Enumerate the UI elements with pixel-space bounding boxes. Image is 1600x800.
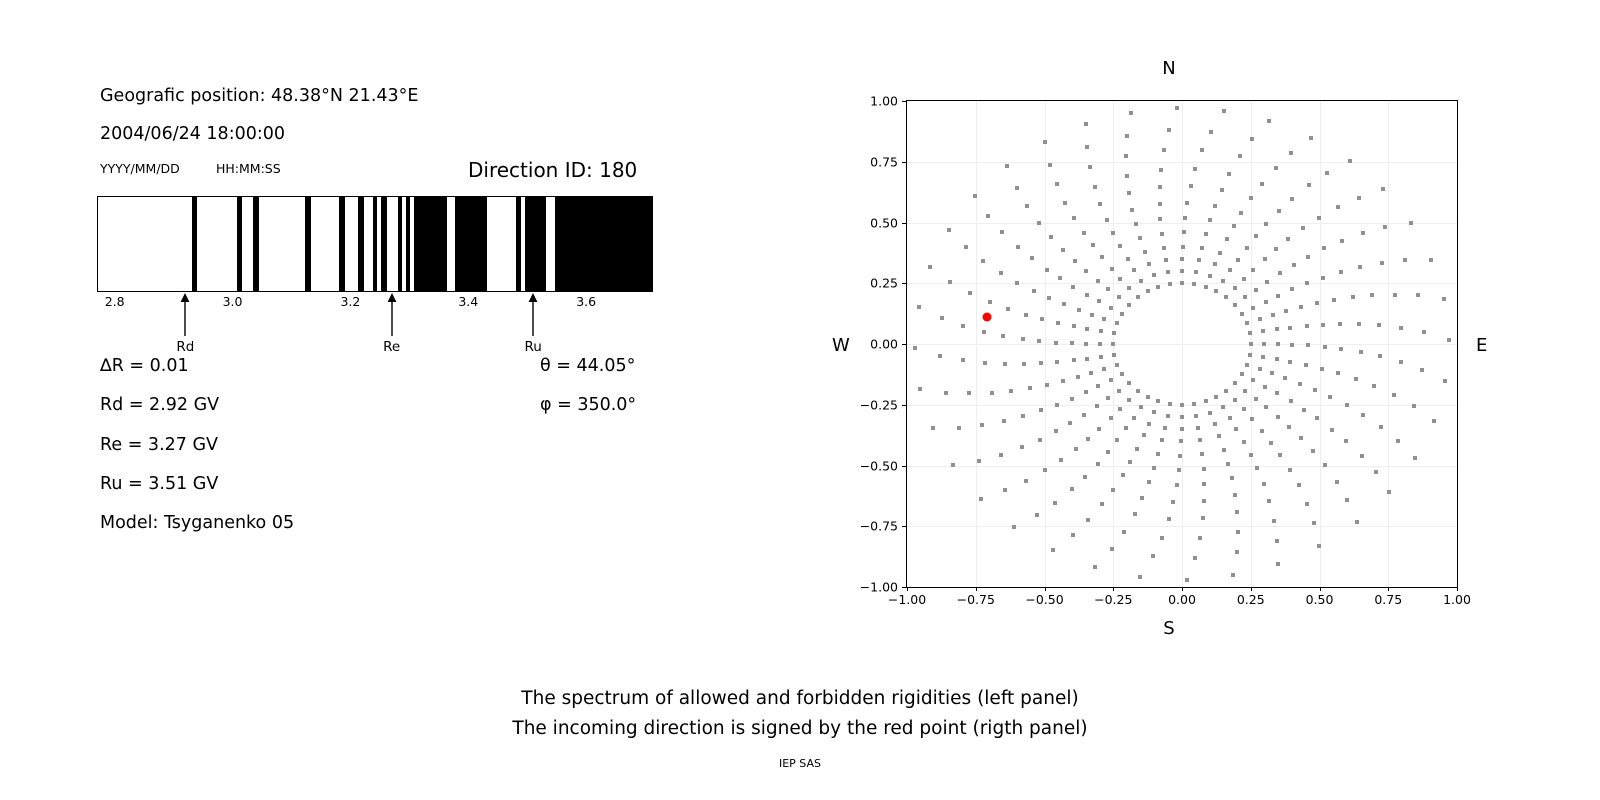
- param-model: Model: Tsyganenko 05: [100, 513, 294, 533]
- forbidden-band: [253, 197, 259, 291]
- param-phi: φ = 350.0°: [540, 395, 636, 415]
- geographic-position-text: Geografic position: 48.38°N 21.43°E: [100, 86, 418, 106]
- x-axis-tick-mark: [1182, 587, 1183, 591]
- forbidden-band: [414, 197, 446, 291]
- direction-map-x-ticks: −1.00−0.75−0.50−0.250.000.250.500.751.00: [820, 40, 1520, 660]
- forbidden-band: [373, 197, 377, 291]
- x-axis-tick-mark: [1251, 587, 1252, 591]
- param-ru: Ru = 3.51 GV: [100, 474, 218, 494]
- forbidden-band: [237, 197, 242, 291]
- direction-map-panel: N E S W −1.00−0.75−0.50−0.250.000.250.50…: [820, 40, 1520, 660]
- x-axis-tick-label: −1.00: [888, 592, 926, 607]
- x-axis-tick-label: −0.75: [957, 592, 995, 607]
- forbidden-band: [381, 197, 387, 291]
- date-format-label: YYYY/MM/DD: [100, 161, 180, 176]
- spectrum-marker-label-rd: Rd: [176, 339, 194, 355]
- forbidden-band: [192, 197, 197, 291]
- x-axis-tick-label: 0.75: [1374, 592, 1402, 607]
- spectrum-plot-area: [97, 196, 653, 292]
- x-axis-tick-label: 0.25: [1237, 592, 1265, 607]
- forbidden-band: [406, 197, 411, 291]
- x-axis-tick-label: −0.25: [1094, 592, 1132, 607]
- spectrum-marker-label-re: Re: [383, 339, 400, 355]
- forbidden-band: [455, 197, 487, 291]
- x-axis-tick-label: 0.50: [1306, 592, 1334, 607]
- x-axis-tick-label: −0.50: [1025, 592, 1063, 607]
- caption-line-1: The spectrum of allowed and forbidden ri…: [0, 688, 1600, 709]
- spectrum-marker-label-ru: Ru: [524, 339, 541, 355]
- forbidden-band: [516, 197, 521, 291]
- forbidden-band: [339, 197, 345, 291]
- x-axis-tick-mark: [1045, 587, 1046, 591]
- forbidden-band: [525, 197, 546, 291]
- caption-line-2: The incoming direction is signed by the …: [0, 718, 1600, 739]
- direction-id-label: Direction ID: 180: [468, 158, 637, 182]
- param-rd: Rd = 2.92 GV: [100, 395, 219, 415]
- param-re: Re = 3.27 GV: [100, 435, 218, 455]
- forbidden-band: [358, 197, 364, 291]
- forbidden-band: [398, 197, 402, 291]
- datetime-text: 2004/06/24 18:00:00: [100, 124, 285, 144]
- footer-credit: IEP SAS: [0, 757, 1600, 770]
- x-axis-tick-mark: [907, 587, 908, 591]
- x-axis-tick-label: 1.00: [1443, 592, 1471, 607]
- time-format-label: HH:MM:SS: [216, 161, 281, 176]
- param-delta-r: ∆R = 0.01: [100, 356, 189, 376]
- spectrum-marker-arrow-ru: [526, 292, 540, 340]
- spectrum-marker-arrows: RdReRu: [97, 292, 653, 352]
- param-theta: θ = 44.05°: [540, 356, 635, 376]
- x-axis-tick-mark: [1457, 587, 1458, 591]
- x-axis-tick-mark: [1388, 587, 1389, 591]
- x-axis-tick-mark: [1320, 587, 1321, 591]
- forbidden-band: [555, 197, 652, 291]
- forbidden-band-container: [98, 197, 652, 291]
- spectrum-marker-arrow-rd: [178, 292, 192, 340]
- forbidden-band: [305, 197, 311, 291]
- x-axis-tick-label: 0.00: [1168, 592, 1196, 607]
- x-axis-tick-mark: [976, 587, 977, 591]
- figure-canvas: Geografic position: 48.38°N 21.43°E 2004…: [0, 0, 1600, 800]
- x-axis-tick-mark: [1113, 587, 1114, 591]
- rigidity-spectrum-panel: Geografic position: 48.38°N 21.43°E 2004…: [0, 0, 760, 660]
- spectrum-marker-arrow-re: [385, 292, 399, 340]
